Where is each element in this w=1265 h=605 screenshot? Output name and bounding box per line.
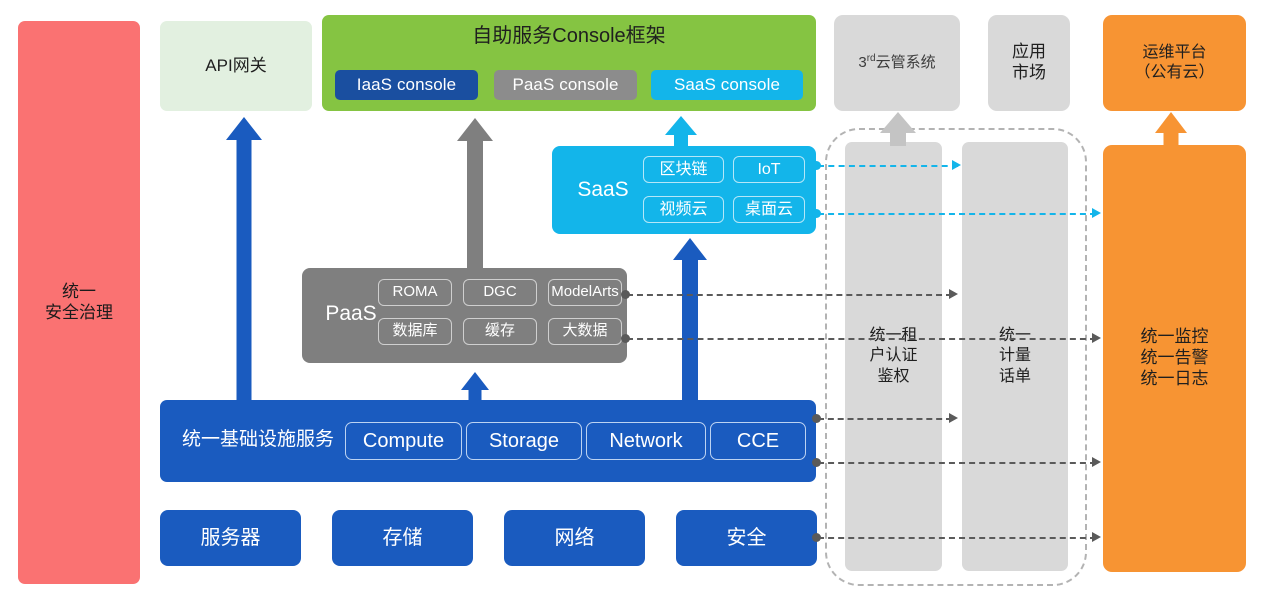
console-frame-title: 自助服务Console框架 bbox=[322, 24, 816, 48]
connector-paas-to-auth bbox=[627, 294, 952, 296]
arrow-infra-to-paas bbox=[460, 372, 489, 402]
paas-chip-dgc[interactable]: DGC bbox=[463, 279, 537, 306]
unified-metering-billing-column: 统一 计量 话单 bbox=[962, 142, 1068, 571]
unified-security-panel: 统一 安全治理 bbox=[18, 21, 140, 584]
ops-line-3: 统一日志 bbox=[1141, 369, 1209, 390]
auth-line-2: 户认证 bbox=[869, 346, 917, 366]
self-service-console-frame: 自助服务Console框架 IaaS console PaaS console … bbox=[322, 15, 816, 111]
paas-chip-cache[interactable]: 缓存 bbox=[463, 318, 537, 345]
hardware-box-server[interactable]: 服务器 bbox=[160, 510, 301, 566]
ops-line-1: 统一监控 bbox=[1141, 327, 1209, 348]
arrowhead-paas-to-billing bbox=[949, 289, 958, 299]
third-party-suffix: 云管系统 bbox=[876, 54, 936, 71]
hardware-box-storage[interactable]: 存储 bbox=[332, 510, 473, 566]
unified-infrastructure-bar: 统一基础设施服务 Compute Storage Network CCE bbox=[160, 400, 816, 482]
paas-block: PaaS ROMA DGC ModelArts 数据库 缓存 大数据 bbox=[302, 268, 627, 363]
infra-chip-storage[interactable]: Storage bbox=[466, 422, 582, 460]
api-gateway-label: API网关 bbox=[205, 56, 266, 77]
infra-chip-compute[interactable]: Compute bbox=[345, 422, 462, 460]
auth-line-3: 鉴权 bbox=[869, 367, 917, 387]
auth-line-1: 统一租 bbox=[869, 326, 917, 346]
arrow-shared-to-third-party bbox=[880, 112, 916, 146]
ops-platform-panel: 统一监控 统一告警 统一日志 bbox=[1103, 145, 1246, 572]
saas-console-chip[interactable]: SaaS console bbox=[651, 70, 803, 100]
saas-chip-iot[interactable]: IoT bbox=[733, 156, 805, 183]
paas-console-chip[interactable]: PaaS console bbox=[494, 70, 637, 100]
app-market-box: 应用 市场 bbox=[988, 15, 1070, 111]
saas-chip-video-cloud[interactable]: 视频云 bbox=[643, 196, 724, 223]
ops-platform-header-box: 运维平台 （公有云） bbox=[1103, 15, 1246, 111]
saas-block: SaaS 区块链 IoT 视频云 桌面云 bbox=[552, 146, 816, 234]
app-market-line-1: 应用 bbox=[1012, 42, 1046, 63]
paas-chip-roma[interactable]: ROMA bbox=[378, 279, 452, 306]
api-gateway-box: API网关 bbox=[160, 21, 312, 111]
infra-chip-cce[interactable]: CCE bbox=[710, 422, 806, 460]
app-market-line-2: 市场 bbox=[1012, 63, 1046, 84]
third-party-superscript: rd bbox=[867, 53, 876, 64]
third-party-cloud-mgmt-box: 3rd云管系统 bbox=[834, 15, 960, 111]
infra-chip-network[interactable]: Network bbox=[586, 422, 706, 460]
arrow-saas-to-saas-console bbox=[664, 116, 697, 147]
billing-line-2: 计量 bbox=[999, 346, 1031, 366]
saas-label: SaaS bbox=[566, 177, 640, 203]
paas-chip-database[interactable]: 数据库 bbox=[378, 318, 452, 345]
arrow-ops-panel-to-header bbox=[1155, 112, 1187, 146]
iaas-console-chip[interactable]: IaaS console bbox=[335, 70, 478, 100]
hardware-box-network[interactable]: 网络 bbox=[504, 510, 645, 566]
saas-chip-desktop-cloud[interactable]: 桌面云 bbox=[733, 196, 805, 223]
connector-saas-to-ops bbox=[818, 213, 1096, 215]
billing-line-1: 统一 bbox=[999, 326, 1031, 346]
arrowhead-infra-to-ops bbox=[1092, 457, 1101, 467]
paas-chip-bigdata[interactable]: 大数据 bbox=[548, 318, 622, 345]
architecture-diagram: 统一 安全治理 API网关 自助服务Console框架 IaaS console… bbox=[0, 0, 1265, 605]
connector-infra-to-ops bbox=[818, 462, 1096, 464]
connector-infra-to-auth bbox=[818, 418, 952, 420]
connector-saas-to-auth bbox=[818, 165, 958, 167]
connector-hardware-to-ops bbox=[818, 537, 1096, 539]
ops-head-line-2: （公有云） bbox=[1134, 63, 1214, 83]
arrowhead-infra-to-billing bbox=[949, 413, 958, 423]
infrastructure-label: 统一基础设施服务 bbox=[172, 428, 344, 451]
billing-line-3: 话单 bbox=[999, 367, 1031, 387]
security-line-2: 安全治理 bbox=[45, 303, 113, 324]
security-line-1: 统一 bbox=[45, 282, 113, 303]
ops-head-line-1: 运维平台 bbox=[1134, 43, 1214, 63]
ops-line-2: 统一告警 bbox=[1141, 348, 1209, 369]
arrowhead-saas-to-ops bbox=[1092, 208, 1101, 218]
unified-tenant-auth-column: 统一租 户认证 鉴权 bbox=[845, 142, 942, 571]
arrow-infra-to-api-gateway bbox=[226, 117, 262, 402]
arrowhead-paas-to-ops bbox=[1092, 333, 1101, 343]
arrowhead-saas-to-billing bbox=[952, 160, 961, 170]
paas-chip-modelarts[interactable]: ModelArts bbox=[548, 279, 622, 306]
connector-paas-to-ops bbox=[627, 338, 1096, 340]
arrow-paas-to-console bbox=[456, 118, 493, 270]
arrowhead-hardware-to-ops bbox=[1092, 532, 1101, 542]
hardware-box-security[interactable]: 安全 bbox=[676, 510, 817, 566]
saas-chip-blockchain[interactable]: 区块链 bbox=[643, 156, 724, 183]
third-party-prefix: 3 bbox=[858, 54, 866, 71]
arrow-infra-to-saas bbox=[672, 238, 707, 401]
